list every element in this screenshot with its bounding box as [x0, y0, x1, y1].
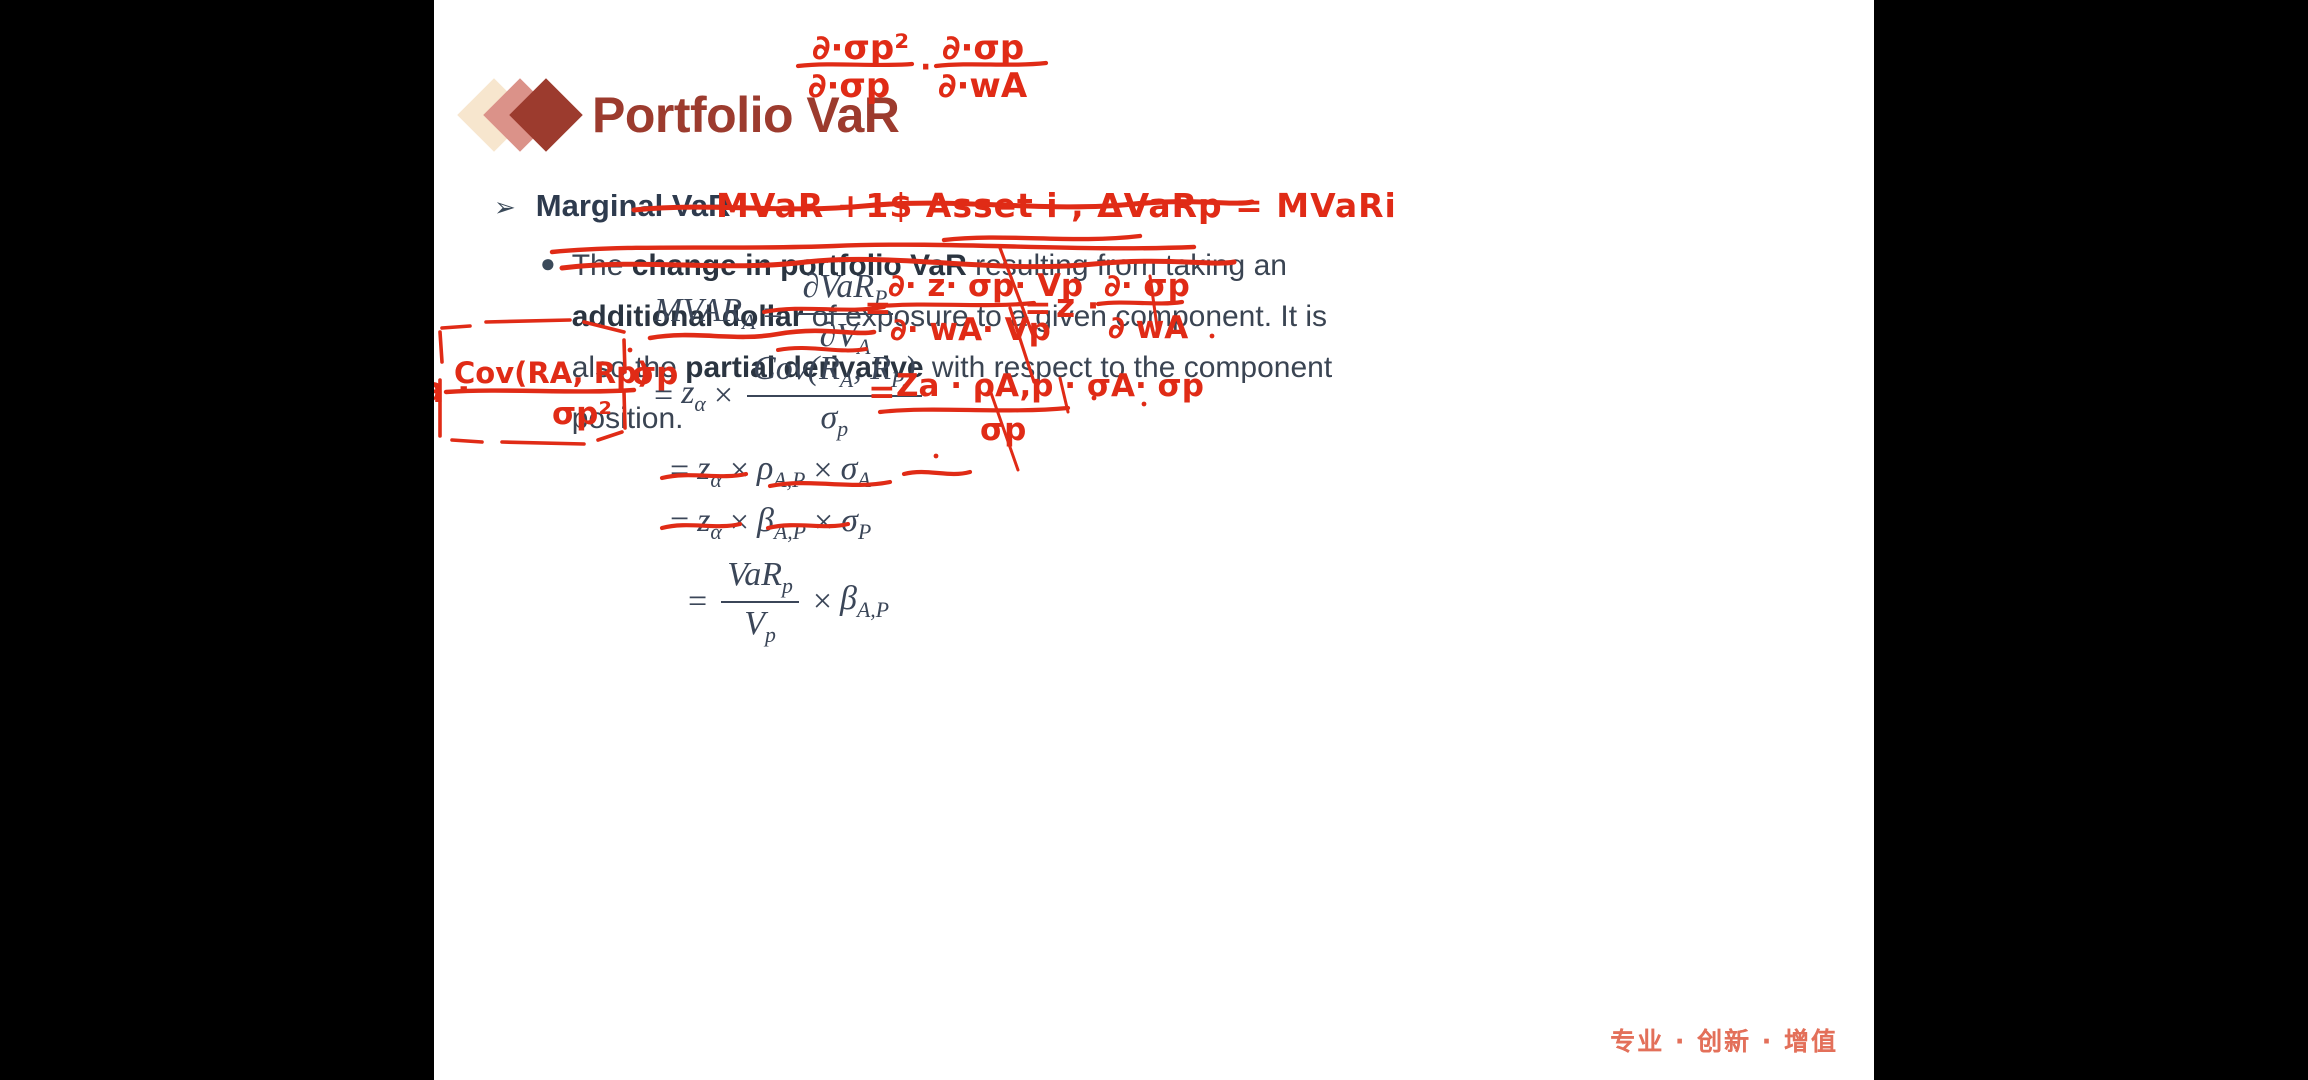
- text-run: resulting from taking an: [967, 249, 1287, 282]
- eq1-fraction: ∂VaRP ∂VA: [797, 268, 894, 360]
- hw-title-numerator-1: ∂·σp²: [812, 28, 909, 68]
- eq5-beta: βA,P: [840, 580, 889, 623]
- equation-varp-over-vp: = VaRp Vp × βA,P: [680, 556, 889, 648]
- footer-slogan: 专业 · 创新 · 增值: [1610, 1022, 1838, 1058]
- presentation-slide: Portfolio VaR ∂·σp² ∂·σp · ∂·σp ∂·wA ➢ M…: [434, 0, 1874, 1080]
- eq2-times: ×: [706, 377, 741, 415]
- eq1-numerator: ∂VaRP: [797, 268, 894, 313]
- eq4-equals: =: [662, 504, 697, 542]
- hw-right1-ink: [434, 0, 1874, 1080]
- eq3-rho: ρA,P: [757, 450, 805, 493]
- eq2-denominator: σp: [814, 397, 854, 442]
- eq5-denominator: Vp: [738, 603, 782, 648]
- hw-equation-underlines: [434, 0, 1874, 1080]
- diamond-logo-icon: [468, 78, 586, 152]
- eq2-numerator: Cov(RA, RP): [747, 350, 922, 395]
- eq4-sigma: σP: [841, 502, 871, 545]
- eq1-lhs: MVARA: [654, 292, 755, 335]
- eq4-times-2: ×: [806, 504, 841, 542]
- hw-left-prefix: Za ·: [434, 370, 471, 411]
- hw-title-numerator-2: ∂·σp: [942, 28, 1024, 68]
- hw-marginal-var-note: MVaR +1$ Asset i , ΔVaRp = MVaRi: [716, 186, 1397, 225]
- dot-bullet-icon: ●: [540, 240, 556, 287]
- equation-covariance: = zα × Cov(RA, RP) σp: [646, 350, 928, 442]
- page-title: Portfolio VaR: [592, 86, 899, 144]
- eq5-numerator: VaRp: [721, 556, 799, 601]
- eq1-equals: =: [755, 295, 790, 333]
- eq3-z: zα: [697, 450, 722, 493]
- eq3-sigma: σA: [841, 450, 871, 493]
- text-run: The: [572, 249, 632, 282]
- eq4-times-1: ×: [722, 504, 757, 542]
- eq3-equals: =: [662, 452, 697, 490]
- hw-right2-ink: [434, 0, 1874, 1080]
- eq3-times-1: ×: [722, 452, 757, 490]
- screenshot-stage: Portfolio VaR ∂·σp² ∂·σp · ∂·σp ∂·wA ➢ M…: [0, 0, 2308, 1080]
- equation-mvar-definition: MVARA = ∂VaRP ∂VA: [654, 268, 899, 360]
- eq5-times: ×: [805, 583, 840, 621]
- eq2-equals: =: [646, 377, 681, 415]
- bullet-level1-label: Marginal VaR: [536, 188, 731, 224]
- equation-beta: = zα × βA,P × σP: [662, 502, 871, 545]
- hw-title-dot: ·: [920, 50, 931, 85]
- hw-paragraph-underlines: [434, 0, 1874, 1080]
- arrow-bullet-icon: ➢: [494, 194, 516, 220]
- slide-title-row: Portfolio VaR: [468, 78, 899, 152]
- eq5-fraction: VaRp Vp: [721, 556, 799, 648]
- equation-rho: = zα × ρA,P × σA: [662, 450, 871, 493]
- hw-title-denominator-2: ∂·wA: [938, 66, 1027, 106]
- hw-left-ink: [434, 0, 1874, 1080]
- bullet-level1: ➢ Marginal VaR: [494, 188, 730, 224]
- eq5-equals: =: [680, 583, 715, 621]
- eq2-z: zα: [681, 374, 706, 417]
- hw-title-fraction-bar-1: [434, 0, 1874, 1080]
- eq3-times-2: ×: [805, 452, 840, 490]
- eq4-z: zα: [697, 502, 722, 545]
- eq2-fraction: Cov(RA, RP) σp: [747, 350, 922, 442]
- hw-title-fraction-bar-2: [434, 0, 1874, 1080]
- eq4-beta: βA,P: [757, 502, 806, 545]
